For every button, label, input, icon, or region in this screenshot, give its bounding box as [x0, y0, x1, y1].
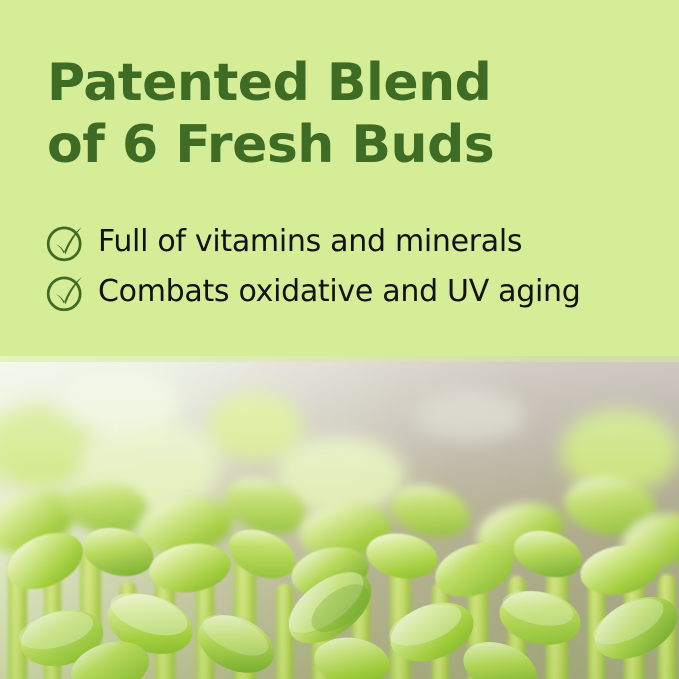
- check-circle-icon: [45, 221, 87, 263]
- product-feature-banner: Patented Blend of 6 Fresh Buds Full of v…: [0, 0, 679, 679]
- sprouts-photo-illustration: [0, 356, 679, 679]
- list-item-label: Combats oxidative and UV aging: [98, 275, 581, 309]
- headline-panel: Patented Blend of 6 Fresh Buds Full of v…: [0, 0, 679, 356]
- sprouts-photo: [0, 356, 679, 679]
- list-item: Full of vitamins and minerals: [45, 217, 665, 267]
- list-item-label: Full of vitamins and minerals: [98, 225, 522, 259]
- feature-list: Full of vitamins and minerals Combats ox…: [45, 217, 665, 317]
- page-title: Patented Blend of 6 Fresh Buds: [47, 52, 647, 176]
- check-circle-icon: [45, 271, 87, 313]
- list-item: Combats oxidative and UV aging: [45, 267, 665, 317]
